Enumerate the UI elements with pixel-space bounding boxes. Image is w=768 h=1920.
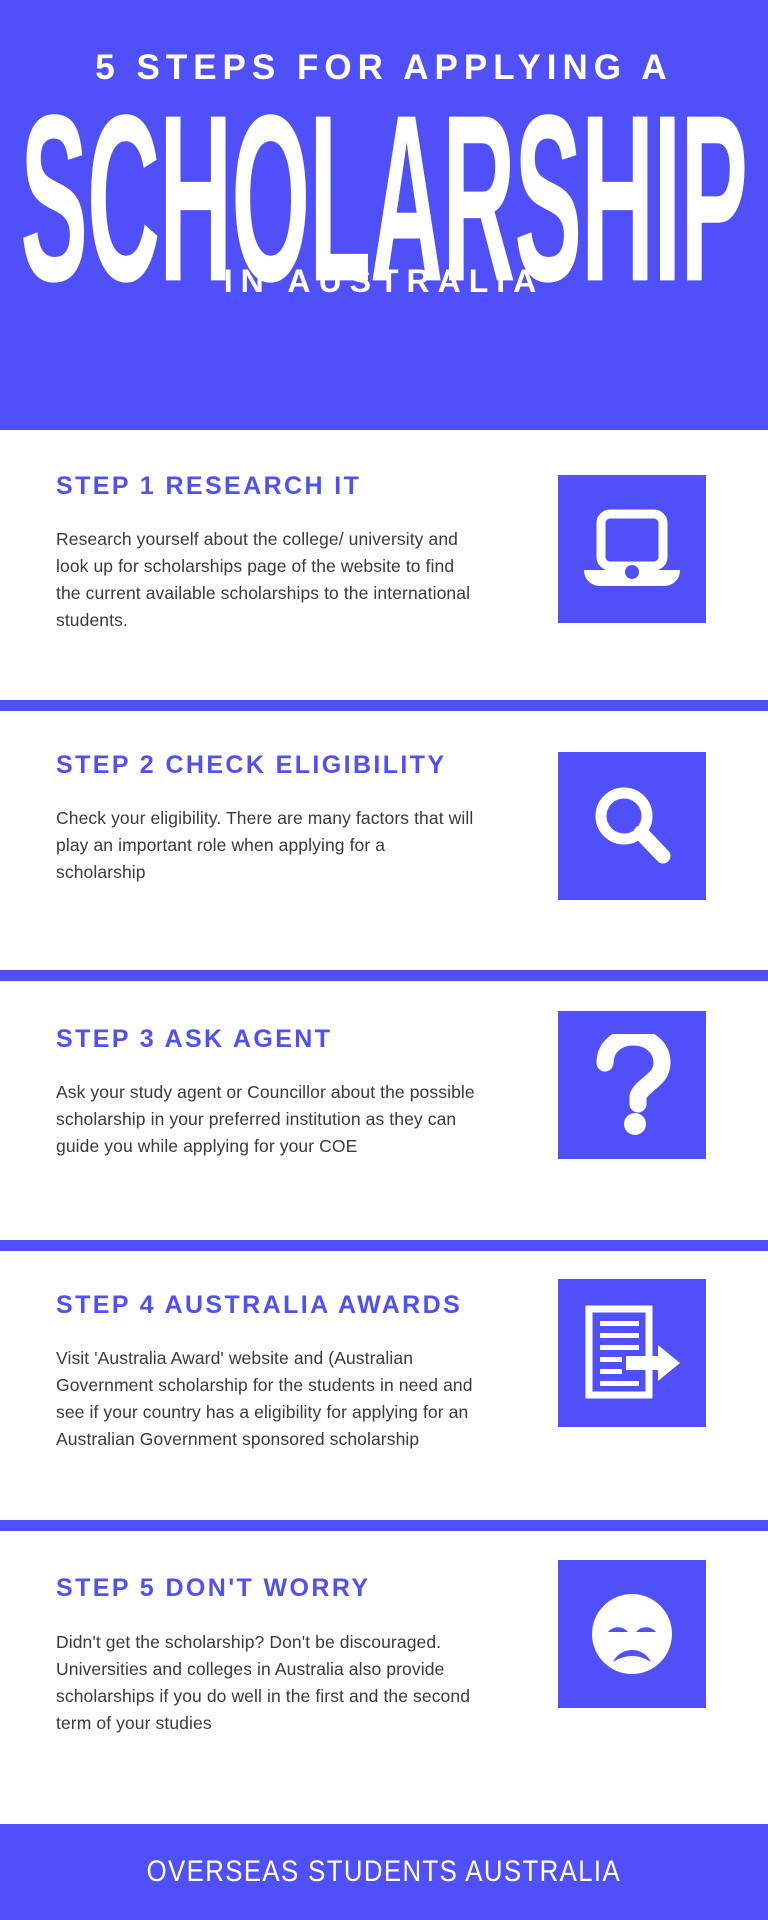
step-icon-box-2 [558, 752, 706, 900]
step-section-5: STEP 5 DON'T WORRY Didn't get the schola… [0, 1531, 768, 1793]
sad-face-icon [584, 1586, 680, 1682]
header-main-title: SCHOLARSHIP [21, 90, 748, 309]
step-icon-box-3 [558, 1011, 706, 1159]
step-body-1: Research yourself about the college/ uni… [56, 526, 476, 634]
laptop-icon [582, 508, 682, 590]
step-title-4: STEP 4 AUSTRALIA AWARDS [56, 1291, 462, 1320]
infographic-header: 5 STEPS FOR APPLYING A SCHOLARSHIP IN AU… [0, 0, 768, 430]
section-divider-4 [0, 1520, 768, 1531]
step-title-2: STEP 2 CHECK ELIGIBILITY [56, 751, 447, 780]
step-body-4: Visit 'Australia Award' website and (Aus… [56, 1345, 476, 1453]
document-export-icon [580, 1305, 684, 1401]
step-section-1: STEP 1 RESEARCH IT Research yourself abo… [0, 430, 768, 700]
footer-bar: OVERSEAS STUDENTS AUSTRALIA [0, 1824, 768, 1920]
step-body-3: Ask your study agent or Councillor about… [56, 1079, 476, 1160]
step-icon-box-5 [558, 1560, 706, 1708]
section-divider-1 [0, 700, 768, 711]
magnifier-icon [586, 780, 678, 872]
step-section-4: STEP 4 AUSTRALIA AWARDS Visit 'Australia… [0, 1251, 768, 1520]
step-title-5: STEP 5 DON'T WORRY [56, 1574, 370, 1603]
section-divider-3 [0, 1240, 768, 1251]
question-mark-icon [593, 1034, 671, 1136]
step-body-5: Didn't get the scholarship? Don't be dis… [56, 1629, 476, 1737]
section-divider-2 [0, 970, 768, 981]
step-body-2: Check your eligibility. There are many f… [56, 805, 476, 886]
step-title-1: STEP 1 RESEARCH IT [56, 472, 361, 501]
footer-brand: OVERSEAS STUDENTS AUSTRALIA [147, 1855, 621, 1889]
step-title-3: STEP 3 ASK AGENT [56, 1025, 332, 1054]
step-section-3: STEP 3 ASK AGENT Ask your study agent or… [0, 981, 768, 1240]
step-icon-box-1 [558, 475, 706, 623]
step-section-2: STEP 2 CHECK ELIGIBILITY Check your elig… [0, 711, 768, 970]
step-icon-box-4 [558, 1279, 706, 1427]
